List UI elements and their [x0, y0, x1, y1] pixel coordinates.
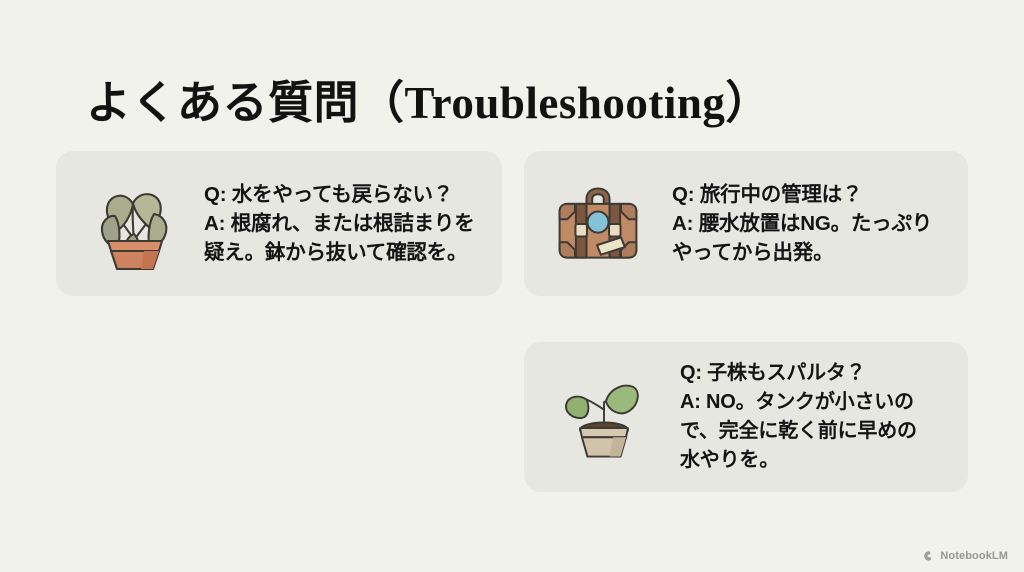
slide-canvas: よくある質問（Troubleshooting）	[0, 0, 1024, 572]
watermark-label: NotebookLM	[940, 550, 1008, 562]
watermark: NotebookLM	[923, 550, 1008, 562]
wilted-potted-plant-icon	[78, 168, 190, 280]
suitcase-icon	[542, 168, 654, 280]
faq-card-root-rot[interactable]: Q: 水をやっても戻らない？ A: 根腐れ、または根詰まりを 疑え。鉢から抜いて…	[56, 151, 502, 296]
faq-card-text: Q: 旅行中の管理は？ A: 腰水放置はNG。たっぷり やってから出発。	[672, 180, 954, 267]
potted-seedling-icon	[552, 365, 656, 469]
faq-card-text: Q: 水をやっても戻らない？ A: 根腐れ、または根詰まりを 疑え。鉢から抜いて…	[204, 180, 488, 267]
faq-card-travel-care[interactable]: Q: 旅行中の管理は？ A: 腰水放置はNG。たっぷり やってから出発。	[524, 151, 968, 296]
faq-card-seedling-care[interactable]: Q: 子株もスパルタ？ A: NO。タンクが小さいの で、完全に乾く前に早めの …	[524, 342, 968, 492]
notebooklm-logo-icon	[923, 550, 935, 562]
faq-card-text: Q: 子株もスパルタ？ A: NO。タンクが小さいの で、完全に乾く前に早めの …	[680, 359, 954, 474]
page-title: よくある質問（Troubleshooting）	[86, 78, 771, 130]
